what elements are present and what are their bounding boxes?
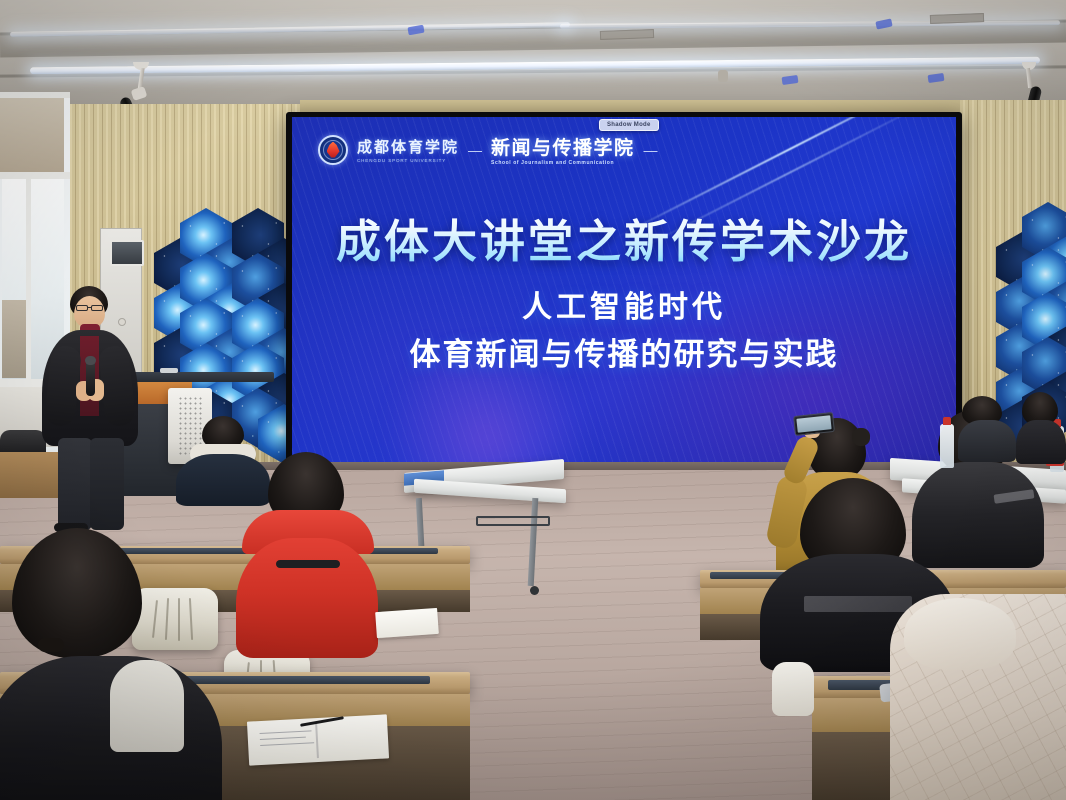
slide-header: 成都体育学院 CHENGDU SPORT UNIVERSITY — 新闻与传播学… [318,133,658,166]
slide-title-main: 成体大讲堂之新传学术沙龙 [292,205,956,270]
sprinkler-head [718,70,728,82]
slide-subtitle-line2: 体育新闻与传播的研究与实践 [292,329,956,374]
attendee-hair [12,528,142,658]
university-name-cn: 成都体育学院 [357,136,459,157]
header-separator-left: — [468,142,482,158]
window-outside-building [2,300,26,378]
presenter-glasses [76,305,88,311]
attendee-back-row-right [1016,392,1066,462]
header-separator-right: — [644,142,658,158]
presenter-leg-right [90,438,124,530]
attendee-far-right-seated [958,396,1018,460]
red-jacket-zip-pocket [276,560,340,568]
ceiling-vent [930,13,984,24]
university-name-block: 成都体育学院 CHENGDU SPORT UNIVERSITY [357,136,459,163]
university-name-en: CHENGDU SPORT UNIVERSITY [357,158,459,163]
slide-subtitle-line1: 人工智能时代 [292,282,956,326]
presenter [36,286,146,531]
puffer-collar-light [110,660,184,752]
presenter-glasses-bridge [88,307,91,308]
red-jacket-body [236,538,378,658]
window-frame [0,172,70,179]
attendee-black-puffer-foreground [0,528,250,800]
attendee-cream-plaid-coat [890,594,1066,800]
shadow-mode-badge[interactable]: Shadow Mode [599,119,659,131]
hair-tie [38,638,64,652]
window-mullion [26,179,31,379]
school-name-block: 新闻与传播学院 School of Journalism and Communi… [491,133,635,166]
smartphone[interactable] [793,412,835,436]
lecture-hall-photo: Shadow Mode 成都体育学院 CHENGDU SPORT UNIVERS… [0,0,1066,800]
hair-bun [852,428,870,446]
plaid-coat-fur-collar [904,598,1016,670]
folding-table-leg [528,498,539,586]
school-name-cn: 新闻与传播学院 [491,133,635,160]
presenter-leg-left [58,438,92,530]
folding-table-shelf [476,516,550,526]
plush-toy [772,662,814,716]
presenter-glasses [91,305,103,311]
ceiling-vent [600,29,654,40]
water-bottle [940,424,954,468]
attendee-jacket [958,420,1016,462]
school-name-en: School of Journalism and Communication [491,160,635,166]
table-caster [530,586,539,595]
podium-device [160,368,178,373]
university-emblem-icon [318,135,348,165]
attendee-red-jacket [232,452,384,658]
papers [375,608,439,638]
attendee-jacket [1016,420,1066,464]
microphone-head [85,356,96,365]
wall-monitor [110,240,144,266]
window-upper-view [0,98,64,172]
